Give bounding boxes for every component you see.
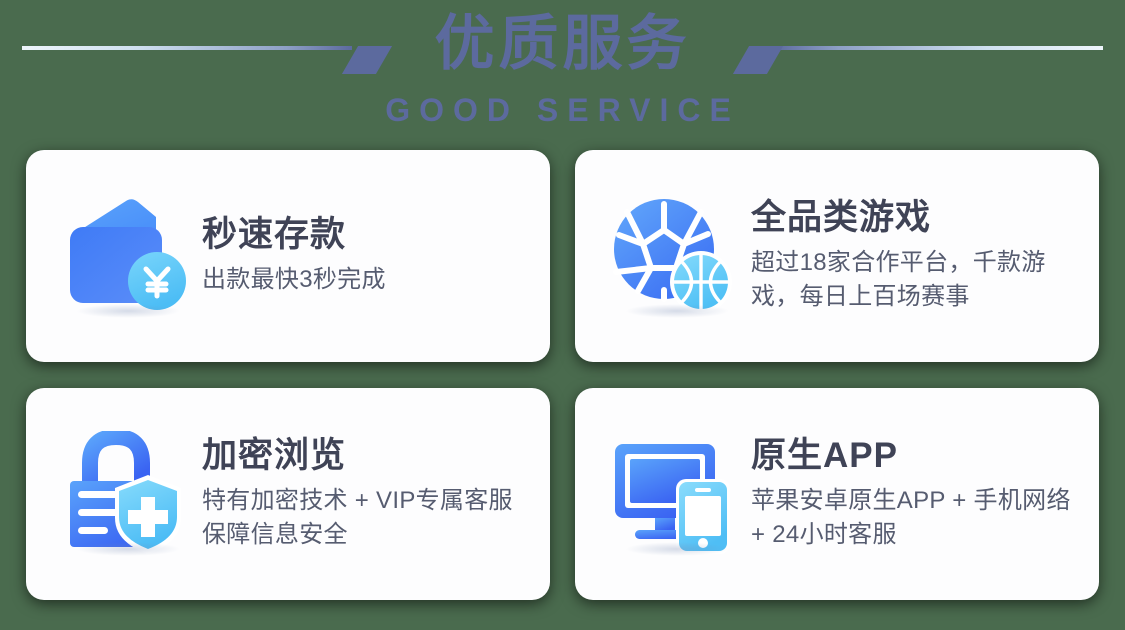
wallet-yen-icon — [54, 186, 194, 326]
feature-card-text: 加密浏览 特有加密技术 + VIP专属客服保障信息安全 — [194, 436, 532, 552]
page-title: 优质服务 — [435, 14, 691, 74]
title-row: 优质服务 — [0, 0, 1125, 88]
card-title: 加密浏览 — [202, 436, 532, 476]
right-decoration-line — [773, 46, 1103, 50]
page-subtitle: GOOD SERVICE — [385, 94, 740, 126]
left-decoration — [22, 38, 402, 78]
card-description: 出款最快3秒完成 — [202, 263, 532, 297]
wallet-yen-icon-svg — [60, 195, 188, 317]
icon-shadow — [625, 304, 729, 318]
feature-card-text: 原生APP 苹果安卓原生APP + 手机网络 + 24小时客服 — [743, 436, 1081, 552]
soccer-basketball-icon — [603, 186, 743, 326]
right-decoration — [723, 38, 1103, 78]
feature-card-encryption[interactable]: 加密浏览 特有加密技术 + VIP专属客服保障信息安全 — [26, 388, 550, 600]
right-decoration-slash — [733, 46, 783, 74]
icon-shadow — [76, 304, 180, 318]
card-description: 特有加密技术 + VIP专属客服保障信息安全 — [202, 484, 532, 552]
monitor-phone-icon-svg — [609, 434, 737, 554]
card-title: 全品类游戏 — [751, 198, 1081, 238]
monitor-phone-icon — [603, 424, 743, 564]
left-decoration-line — [22, 46, 352, 50]
icon-shadow — [76, 542, 180, 556]
feature-card-text: 秒速存款 出款最快3秒完成 — [194, 215, 532, 297]
promo-banner: 优质服务 GOOD SERVICE — [0, 0, 1125, 630]
lock-shield-icon — [54, 424, 194, 564]
soccer-basketball-icon-svg — [608, 194, 738, 318]
icon-shadow — [625, 542, 729, 556]
feature-card-grid: 秒速存款 出款最快3秒完成 — [26, 150, 1099, 600]
card-title: 原生APP — [751, 436, 1081, 476]
left-decoration-slash — [342, 46, 392, 74]
feature-card-games[interactable]: 全品类游戏 超过18家合作平台，千款游戏，每日上百场赛事 — [575, 150, 1099, 362]
feature-card-deposit[interactable]: 秒速存款 出款最快3秒完成 — [26, 150, 550, 362]
card-description: 苹果安卓原生APP + 手机网络 + 24小时客服 — [751, 484, 1081, 552]
feature-card-native-app[interactable]: 原生APP 苹果安卓原生APP + 手机网络 + 24小时客服 — [575, 388, 1099, 600]
banner-header: 优质服务 GOOD SERVICE — [0, 0, 1125, 140]
lock-shield-icon-svg — [60, 431, 188, 557]
feature-card-text: 全品类游戏 超过18家合作平台，千款游戏，每日上百场赛事 — [743, 198, 1081, 314]
card-title: 秒速存款 — [202, 215, 532, 255]
card-description: 超过18家合作平台，千款游戏，每日上百场赛事 — [751, 246, 1081, 314]
